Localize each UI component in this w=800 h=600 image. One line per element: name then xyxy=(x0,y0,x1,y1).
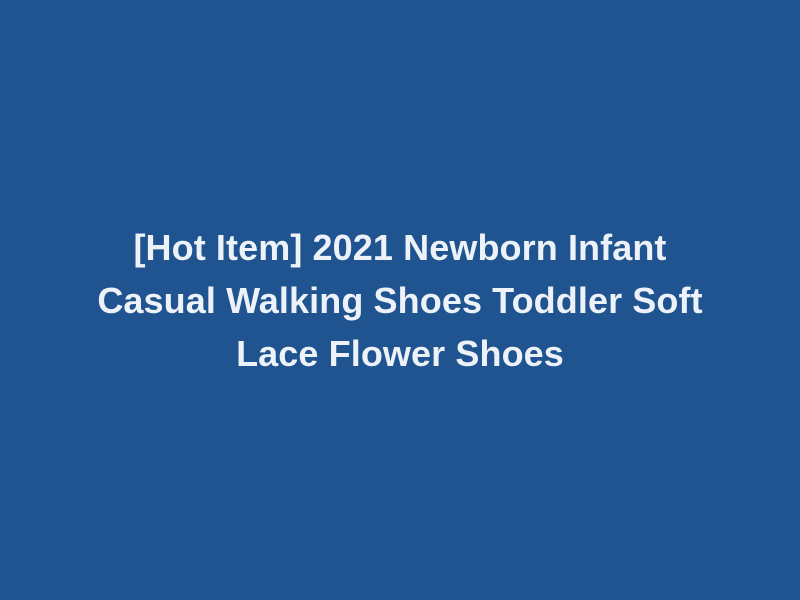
product-title-card: [Hot Item] 2021 Newborn Infant Casual Wa… xyxy=(0,0,800,600)
page-title-line-2: Casual Walking Shoes Toddler Soft xyxy=(64,274,736,327)
page-title-line-1: [Hot Item] 2021 Newborn Infant xyxy=(64,221,736,274)
page-title: [Hot Item] 2021 Newborn Infant Casual Wa… xyxy=(64,221,736,380)
page-title-line-3: Lace Flower Shoes xyxy=(64,327,736,380)
title-block: [Hot Item] 2021 Newborn Infant Casual Wa… xyxy=(50,221,750,380)
